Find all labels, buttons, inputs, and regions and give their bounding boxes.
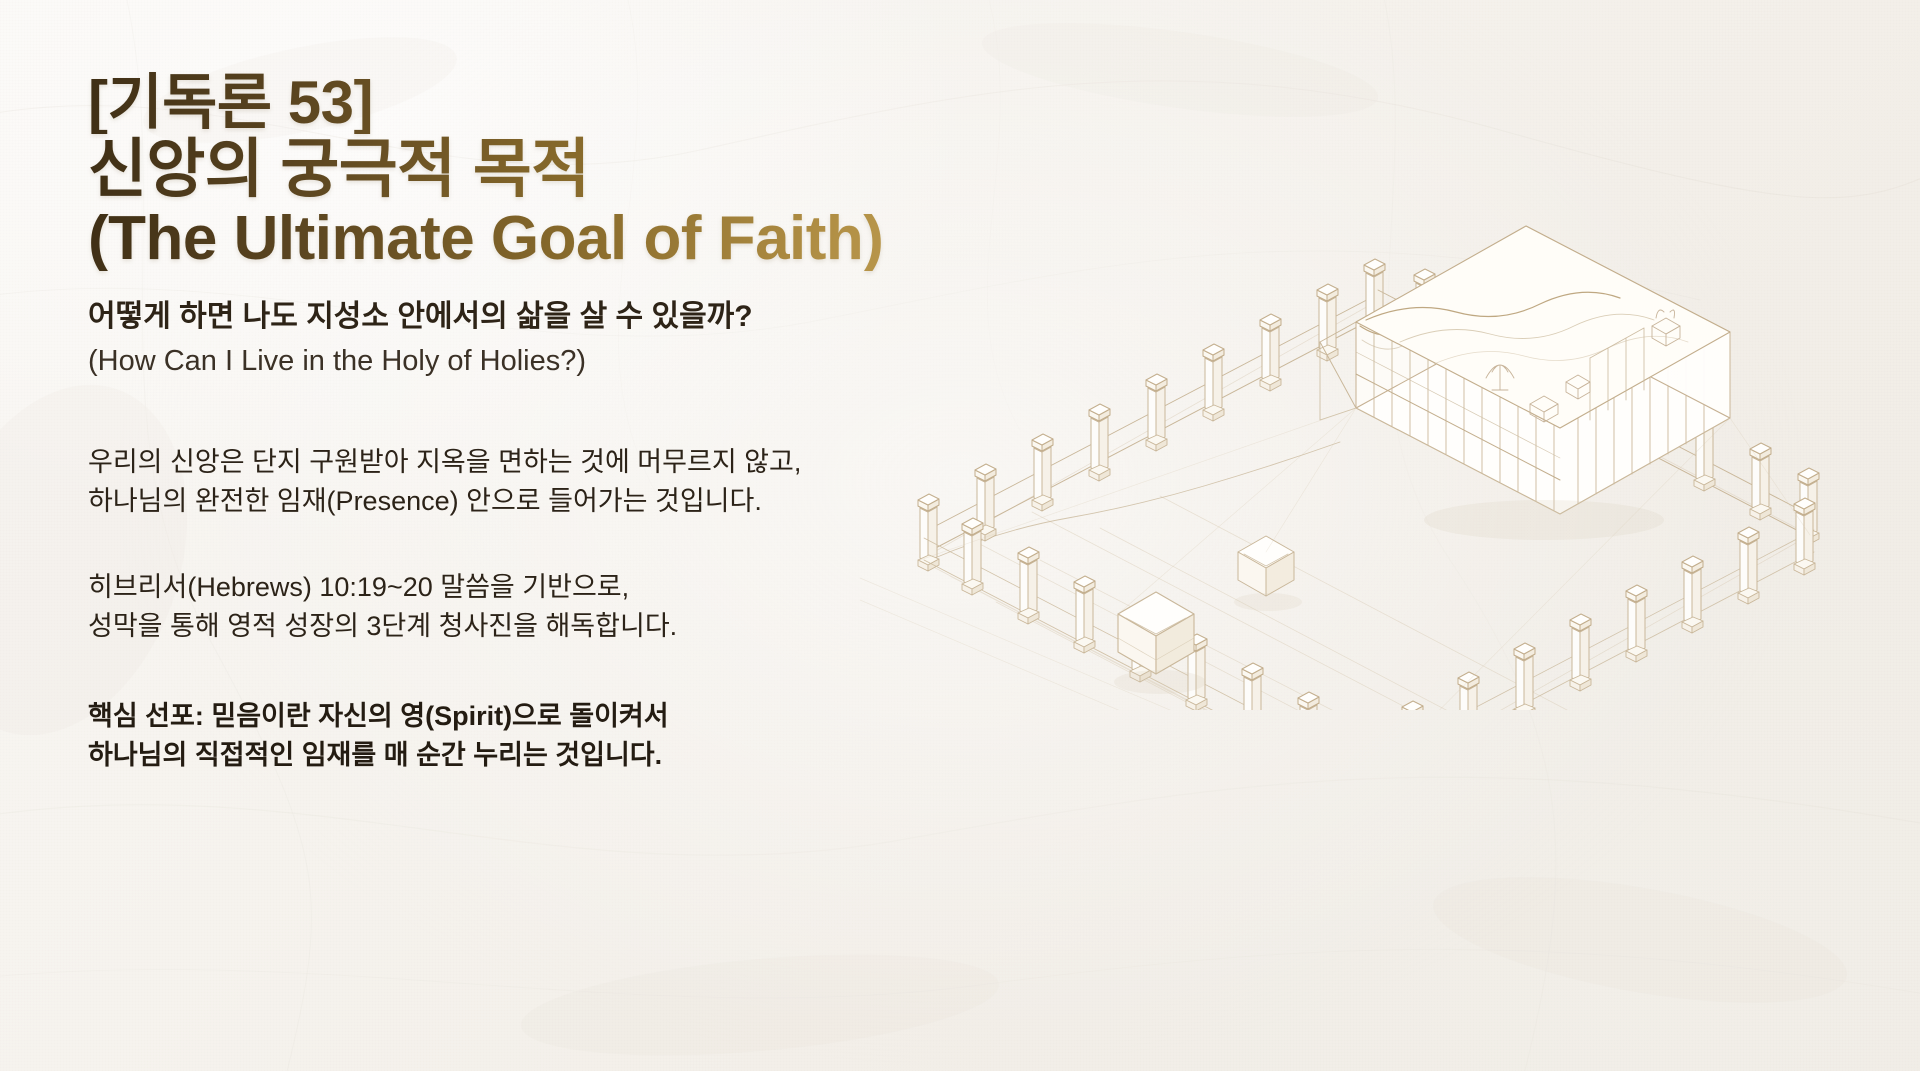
body-paragraph-3-line-1: 핵심 선포: 믿음이란 자신의 영(Spirit)으로 돌이켜서 [88, 697, 1048, 736]
title-line-english: (The Ultimate Goal of Faith) [88, 207, 1048, 271]
body-paragraph-1: 우리의 신앙은 단지 구원받아 지옥을 면하는 것에 머무르지 않고, 하나님의… [88, 443, 1048, 522]
body-paragraph-1-line-1: 우리의 신앙은 단지 구원받아 지옥을 면하는 것에 머무르지 않고, [88, 443, 1048, 482]
title-line-series: [기독론 53] [88, 72, 1048, 134]
slide-text-content: [기독론 53] 신앙의 궁극적 목적 (The Ultimate Goal o… [88, 72, 1048, 775]
page-title: [기독론 53] 신앙의 궁극적 목적 (The Ultimate Goal o… [88, 72, 1048, 271]
body-paragraph-1-line-2: 하나님의 완전한 임재(Presence) 안으로 들어가는 것입니다. [88, 482, 1048, 521]
subtitle-korean: 어떻게 하면 나도 지성소 안에서의 삶을 살 수 있을까? [88, 297, 1048, 338]
body-paragraph-3-line-2: 하나님의 직접적인 임재를 매 순간 누리는 것입니다. [88, 736, 1048, 775]
subtitle-english: (How Can I Live in the Holy of Holies?) [88, 342, 1048, 381]
body-paragraph-2-line-1: 히브리서(Hebrews) 10:19~20 말씀을 기반으로, [88, 568, 1048, 607]
slide-root: [기독론 53] 신앙의 궁극적 목적 (The Ultimate Goal o… [0, 0, 1920, 1071]
title-line-korean: 신앙의 궁극적 목적 [88, 136, 1048, 203]
body-paragraph-3-key-declaration: 핵심 선포: 믿음이란 자신의 영(Spirit)으로 돌이켜서 하나님의 직접… [88, 697, 1048, 776]
body-paragraph-2: 히브리서(Hebrews) 10:19~20 말씀을 기반으로, 성막을 통해 … [88, 568, 1048, 647]
subtitle-block: 어떻게 하면 나도 지성소 안에서의 삶을 살 수 있을까? (How Can … [88, 297, 1048, 381]
body-paragraph-2-line-2: 성막을 통해 영적 성장의 3단계 청사진을 해독합니다. [88, 607, 1048, 646]
